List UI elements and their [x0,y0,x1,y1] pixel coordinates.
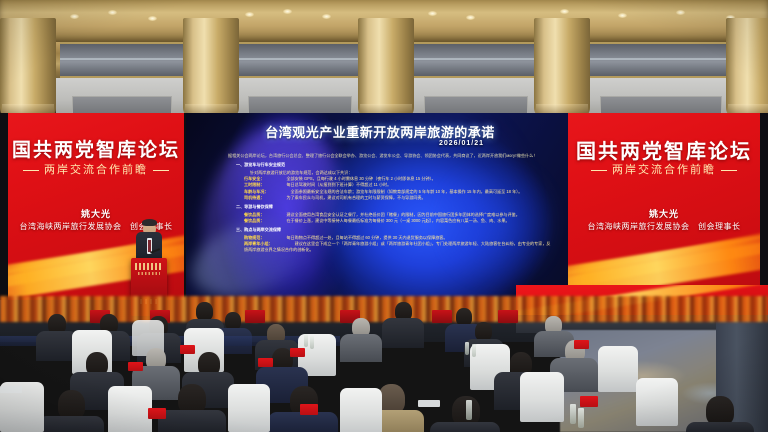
audience-chair [636,378,678,426]
slide-bullet-text: 建议全面使用台湾食品安全认证之餐厅，并杜绝低价团「赌餐」的限制，因为目前中国旅行… [286,212,519,217]
ceiling-downlight [283,9,292,14]
slide-bullet-text: 全部安装 GPS，且每行驶 4 小时需休息 30 分钟（夜行车 2 小时即休息 … [286,176,435,181]
stage-backdrop: 国共两党智库论坛 两岸交流合作前瞻 姚大光 台湾海峡两岸旅行发展协会 创会理事长… [0,113,768,305]
ceiling-downlight [245,12,254,17]
forum-subtitle: 两岸交流合作前瞻 [568,161,760,177]
audience-name-card [148,408,166,419]
audience-name-card [574,340,589,349]
speaker-name-left: 姚大光 [8,207,184,220]
ceiling-downlight [148,16,157,21]
ceiling-downlight [676,10,685,15]
slide-bullet-text: 每日购物点不得超过一处，且每站不得超过 60 分钟，提供 30 天内退货服务以保… [286,235,447,240]
slide-section-heading: 三、购点与两岸交流保障 [236,227,552,233]
water-bottle [310,336,314,349]
audience-name-card [300,404,318,415]
speaker-hair [142,219,157,226]
slide-bullet-text: 在于餐价上涨，建议中等接待人每餐最低标准为每餐价 300 元（一桌 3000 元… [286,218,509,223]
audience-name-card [290,348,305,357]
forum-subtitle: 两岸交流合作前瞻 [8,161,184,177]
slide-section-heading: 一、游览车与行车安全规范 [236,162,552,168]
forum-banner-right: 国共两党智库论坛 两岸交流合作前瞻 姚大光 台湾海峡两岸旅行发展协会 创会理事长 [568,113,760,305]
ceiling-downlight [560,9,569,14]
slide-bullet-label: 司机待遇： [244,195,264,200]
speaker-name-right: 姚大光 [568,207,760,220]
water-bottle [472,344,476,357]
slide-bullet-label: 餐饮品质： [244,212,264,217]
ceiling-downlight [70,14,79,19]
upper-window [60,42,186,78]
slide-date: 2026/01/21 [439,140,484,147]
audience-document [0,386,22,393]
slide-bullet-label: 车龄与车况： [244,189,269,194]
audience-chair [228,384,270,432]
audience-chair [520,372,564,422]
led-presentation-screen: 台湾观光产业重新开放两岸旅游的承诺 2026/01/21 据相关公会两岸论坛，台… [186,113,574,305]
audience-chair [108,386,152,432]
audience-torso [382,318,424,348]
upper-window [412,42,542,78]
podium-subtitle-plate [138,272,160,275]
speaker-role-right: 台湾海峡两岸旅行发展协会 创会理事长 [568,221,760,232]
water-bottle [304,334,308,347]
ceiling-downlight [618,13,627,18]
slide-bullet-label: 工时限制： [244,182,264,187]
audience-torso [686,422,754,432]
slide-bullet-label: 购物规范： [244,235,264,240]
audience-torso [158,410,226,432]
slide-bullet-text: 建议在这里会下成立一个「两岸青年旅游小组」或「两岸旅游青年社团小组」，专门处理两… [244,241,551,252]
podium-nameplate [135,263,163,270]
audience-name-card [258,358,273,367]
slide-bullet: 司机待遇：为了乘车民众与司机，建议对司机有合理的工时与薪资保障，不与导游同责。 [244,195,552,201]
forum-title: 国共两党智库论坛 [8,135,184,162]
ceiling-downlight [108,10,117,15]
slide-intro-paragraph: 据相关公会两岸论坛，台湾旅行公会总会、整理了旅行公会全联会举办、游览公会、游览车… [228,153,552,159]
audience-torso [38,416,104,432]
audience-torso [268,412,338,432]
water-bottle [465,342,469,355]
forum-subtitle-text: 两岸交流合作前瞻 [612,164,716,176]
ceiling-downlight [466,15,475,20]
audience-name-card [580,396,598,407]
speaker-role-left: 台湾海峡两岸旅行发展协会 创会理事长 [8,221,184,232]
forum-subtitle-text: 两岸交流合作前瞻 [44,164,148,176]
water-bottle [466,400,472,420]
slide-bullet-label: 两岸青年小组： [244,241,273,246]
ceiling-downlight [322,14,331,19]
slide-body: 据相关公会两岸论坛，台湾旅行公会总会、整理了旅行公会全联会举办、游览公会、游览车… [228,153,552,254]
upper-window [588,42,736,78]
hall-column [358,18,414,116]
slide-bullet-text: 全面参照最新安全法规的合法车龄；游览车年限限制（如教育部规定的 5 年车龄 10… [291,189,523,194]
slide-bullet-label: 餐饮品质： [244,218,264,223]
upper-window [237,42,367,78]
slide-bullet-label: 行车安全： [244,176,264,181]
hall-column [0,18,56,116]
audience-name-card [128,362,143,371]
forum-title: 国共两党智库论坛 [568,135,760,164]
audience-chair [340,388,382,432]
hall-ceiling [0,0,768,116]
hall-column [534,18,590,116]
audience-torso [340,334,382,362]
water-bottle [578,408,584,428]
slide-bullet: 两岸青年小组：建议在这里会下成立一个「两岸青年旅游小组」或「两岸旅游青年社团小组… [244,241,552,254]
conference-hall-scene: 国共两党智库论坛 两岸交流合作前瞻 姚大光 台湾海峡两岸旅行发展协会 创会理事长… [0,0,768,432]
audience-chair [598,346,638,392]
slide-section-heading: 二、导游与餐饮保障 [236,204,552,210]
hall-column [726,18,768,116]
audience-name-card [180,345,195,354]
slide-title: 台湾观光产业重新开放两岸旅游的承诺 [186,122,574,141]
water-bottle [570,404,576,424]
ceiling-downlight [428,11,437,16]
slide-bullet-text: 每日总驾驶时间（从报到到下班计算）不得超过 11 小时。 [286,182,391,187]
slide-bullet-text: 为了乘车民众与司机，建议对司机有合理的工时与薪资保障，不与导游同责。 [286,195,425,200]
audience-area [0,300,768,432]
speaker-tie [148,240,151,252]
audience-torso [430,422,500,432]
audience-document [418,400,440,407]
slide-bullet: 餐饮品质：在于餐价上涨，建议中等接待人每餐最低标准为每餐价 300 元（一桌 3… [244,218,552,224]
hall-column [183,18,239,116]
